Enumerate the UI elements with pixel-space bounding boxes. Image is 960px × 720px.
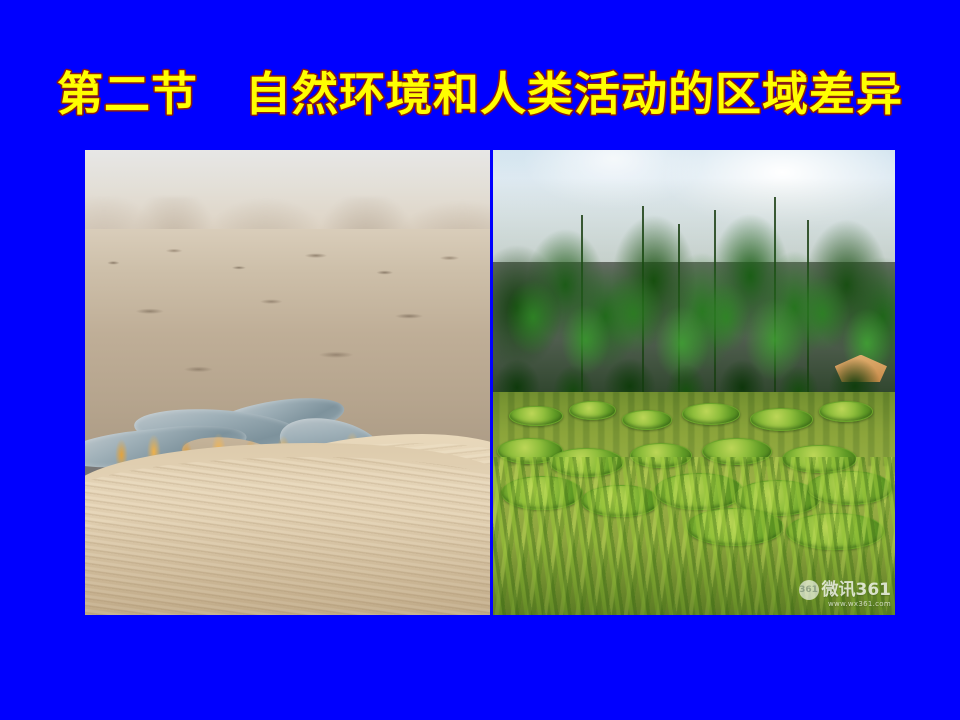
foreground-reeds-shadow	[493, 541, 895, 615]
presentation-slide: 第二节 自然环境和人类活动的区域差异	[0, 0, 960, 720]
lily-pad	[750, 408, 812, 430]
lily-pad	[622, 410, 672, 430]
photo-arid-desert-river[interactable]	[85, 150, 490, 615]
lily-pad	[569, 401, 615, 420]
lily-pad	[682, 403, 740, 425]
slide-title: 第二节 自然环境和人类活动的区域差异	[0, 68, 960, 120]
arid-dune-shadow	[85, 513, 490, 615]
lily-pad	[819, 401, 873, 422]
photo-tropical-rainforest-pond[interactable]: 361 微讯361 www.wx361.com	[493, 150, 895, 615]
